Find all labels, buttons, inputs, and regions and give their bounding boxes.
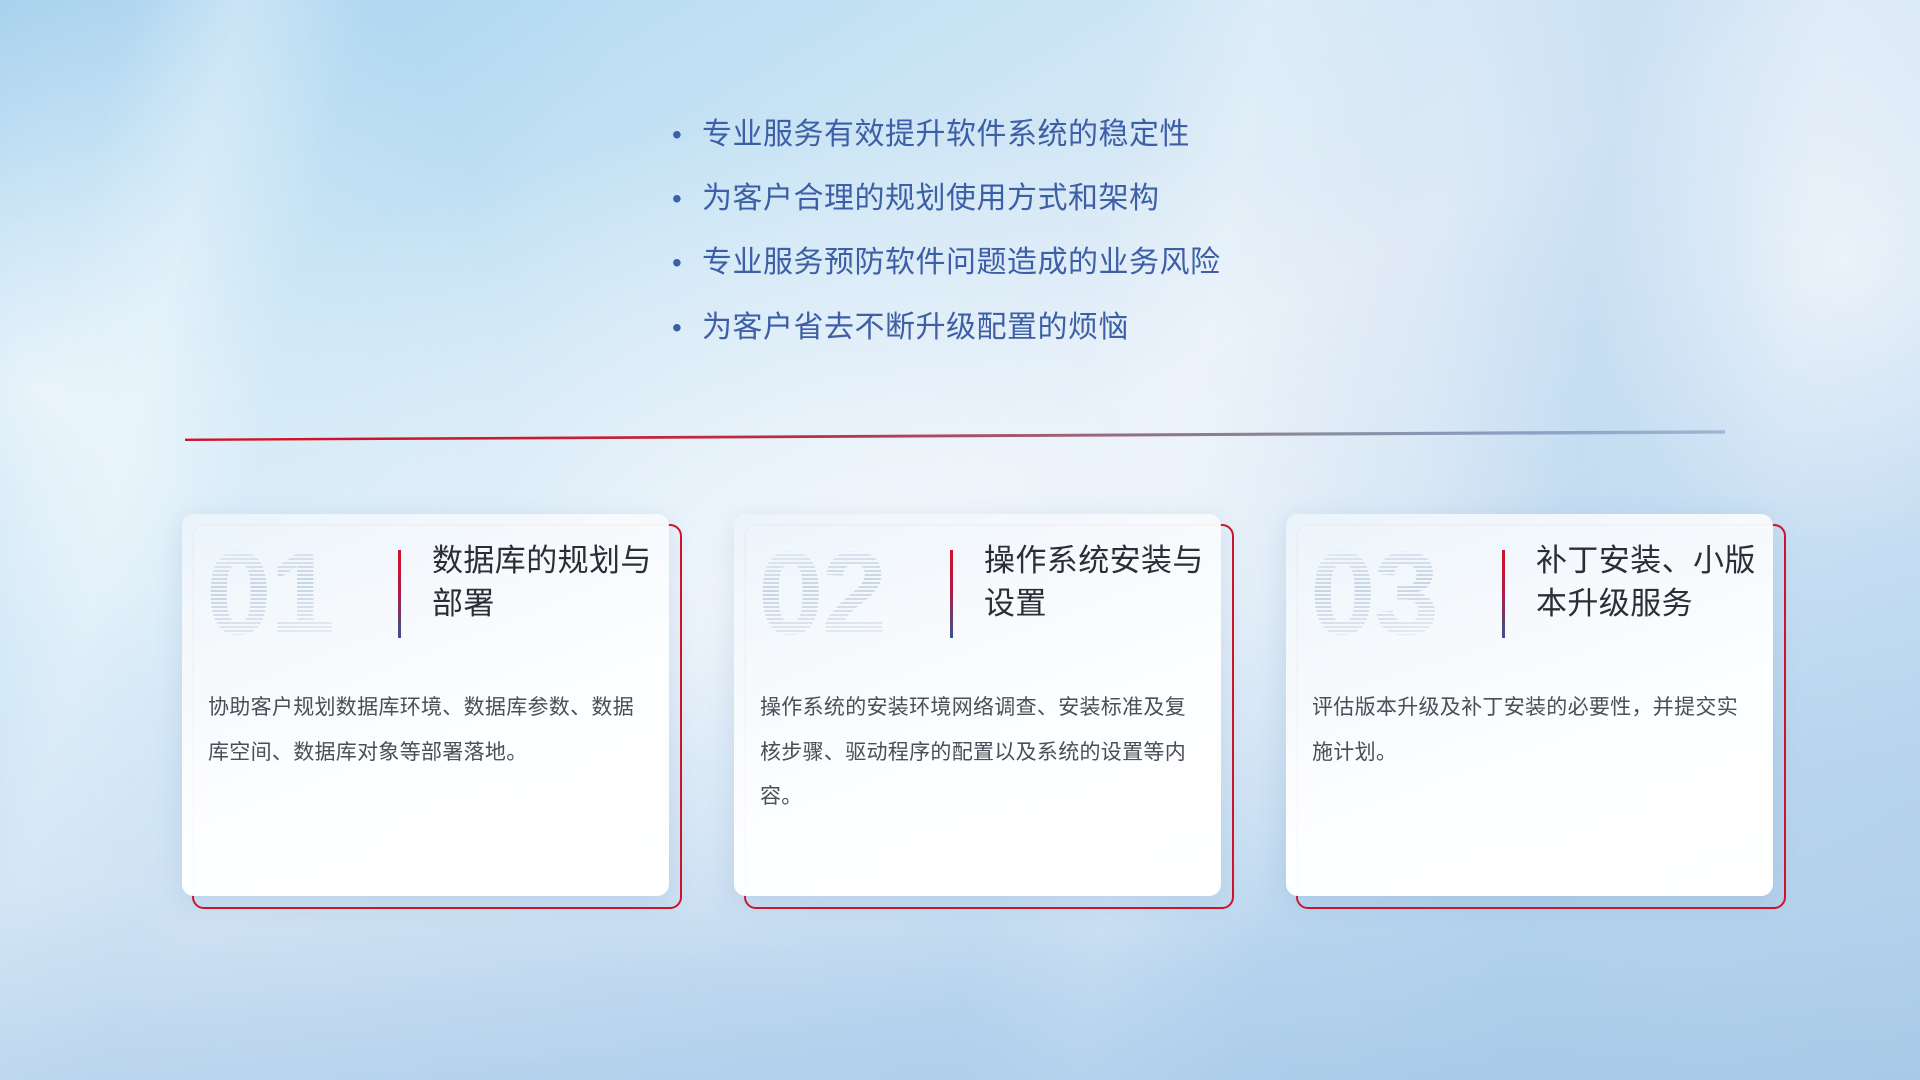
list-item: • 专业服务有效提升软件系统的稳定性 [672, 115, 1412, 155]
bullet-text: 为客户省去不断升级配置的烦恼 [702, 308, 1129, 348]
list-item: • 为客户合理的规划使用方式和架构 [672, 179, 1412, 219]
card-title: 补丁安装、小版本升级服务 [1536, 540, 1766, 626]
card-title-rule [398, 550, 401, 638]
svg-text:01: 01 [206, 542, 333, 652]
service-card-row: 01 数据库的规划与部署 协助客户规划数据库环境、数据库参数、数据库空间、数据库… [182, 514, 1778, 914]
card-title: 数据库的规划与部署 [432, 540, 662, 626]
bullet-text: 为客户合理的规划使用方式和架构 [702, 179, 1160, 219]
card-surface: 03 补丁安装、小版本升级服务 评估版本升级及补丁安装的必要性，并提交实施计划。 [1286, 514, 1773, 896]
card-surface: 02 操作系统安装与设置 操作系统的安装环境网络调查、安装标准及复核步骤、驱动程… [734, 514, 1221, 896]
card-title-rule [950, 550, 953, 638]
bullet-text: 专业服务有效提升软件系统的稳定性 [702, 115, 1190, 155]
card-body-text: 操作系统的安装环境网络调查、安装标准及复核步骤、驱动程序的配置以及系统的设置等内… [760, 686, 1196, 820]
tapered-divider-bar [185, 425, 1725, 441]
bullet-dot-icon: • [672, 249, 702, 277]
bullet-text: 专业服务预防软件问题造成的业务风险 [702, 243, 1221, 283]
bullet-dot-icon: • [672, 185, 702, 213]
ghost-number-03-icon: 03 [1310, 542, 1490, 652]
list-item: • 为客户省去不断升级配置的烦恼 [672, 308, 1412, 348]
card-body-text: 协助客户规划数据库环境、数据库参数、数据库空间、数据库对象等部署落地。 [208, 686, 644, 775]
card-surface: 01 数据库的规划与部署 协助客户规划数据库环境、数据库参数、数据库空间、数据库… [182, 514, 669, 896]
list-item: • 专业服务预防软件问题造成的业务风险 [672, 243, 1412, 283]
service-card[interactable]: 02 操作系统安装与设置 操作系统的安装环境网络调查、安装标准及复核步骤、驱动程… [734, 514, 1224, 904]
svg-text:03: 03 [1310, 542, 1437, 652]
ghost-number-01-icon: 01 [206, 542, 386, 652]
service-card[interactable]: 01 数据库的规划与部署 协助客户规划数据库环境、数据库参数、数据库空间、数据库… [182, 514, 672, 904]
service-card[interactable]: 03 补丁安装、小版本升级服务 评估版本升级及补丁安装的必要性，并提交实施计划。 [1286, 514, 1776, 904]
card-body-text: 评估版本升级及补丁安装的必要性，并提交实施计划。 [1312, 686, 1748, 775]
svg-text:02: 02 [758, 542, 885, 652]
ghost-number-02-icon: 02 [758, 542, 938, 652]
bullet-dot-icon: • [672, 314, 702, 342]
bullet-dot-icon: • [672, 121, 702, 149]
card-title: 操作系统安装与设置 [984, 540, 1214, 626]
benefits-bullet-list: • 专业服务有效提升软件系统的稳定性 • 为客户合理的规划使用方式和架构 • 专… [672, 115, 1412, 372]
card-title-rule [1502, 550, 1505, 638]
